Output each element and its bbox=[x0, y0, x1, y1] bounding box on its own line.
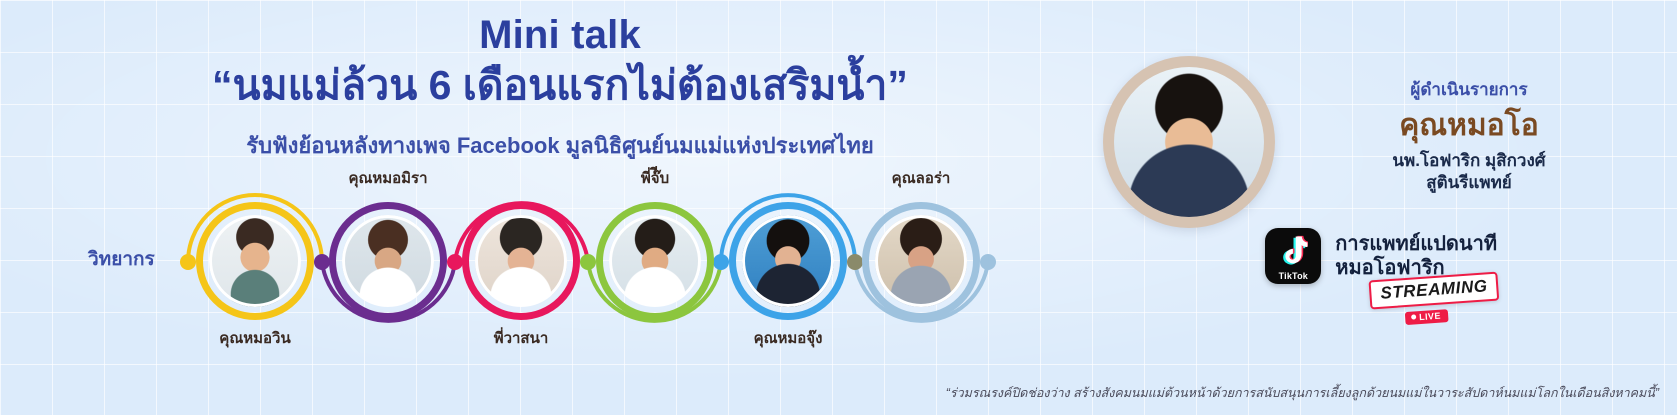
speaker-6[interactable]: คุณลอร่า bbox=[862, 202, 980, 320]
tiktok-wordmark: TikTok bbox=[1265, 271, 1321, 281]
title-subtitle: รับฟังย้อนหลังทางเพจ Facebook มูลนิธิศูน… bbox=[0, 128, 1120, 163]
speaker-5-label: คุณหมอจุ๊ง bbox=[688, 326, 888, 350]
live-badge: LIVE bbox=[1404, 309, 1447, 325]
speaker-3[interactable]: พี่วาสนา bbox=[462, 202, 580, 320]
speaker-timeline: คุณหมอวิน คุณหมอมิรา พี่วาสนา พี่จ๊ีบ คุ… bbox=[0, 172, 1120, 362]
speaker-3-label: พี่วาสนา bbox=[421, 326, 621, 350]
footer-caption: “ร่วมรณรงค์ปิดช่องว่าง สร้างสังคมนมแม่ต้… bbox=[946, 383, 1659, 403]
live-dot-icon bbox=[1411, 314, 1416, 319]
speaker-3-photo bbox=[475, 215, 567, 307]
host-full-name: นพ.โอฟาริก มุสิกวงศ์ bbox=[1289, 150, 1649, 172]
speaker-5[interactable]: คุณหมอจุ๊ง bbox=[729, 202, 847, 320]
speaker-1-label: คุณหมอวิน bbox=[155, 326, 355, 350]
speaker-5-photo bbox=[742, 215, 834, 307]
host-name: คุณหมอโอ bbox=[1289, 109, 1649, 142]
host-block: ผู้ดำเนินรายการ คุณหมอโอ นพ.โอฟาริก มุสิ… bbox=[1103, 56, 1663, 246]
promo-banner: Mini talk “นมแม่ล้วน 6 เดือนแรกไม่ต้องเส… bbox=[0, 0, 1677, 415]
host-specialty: สูตินรีแพทย์ bbox=[1289, 172, 1649, 194]
speaker-6-label: คุณลอร่า bbox=[821, 166, 1021, 190]
host-avatar-frame bbox=[1103, 56, 1275, 228]
speaker-4[interactable]: พี่จ๊ีบ bbox=[596, 202, 714, 320]
speaker-6-photo bbox=[875, 215, 967, 307]
host-avatar bbox=[1114, 67, 1264, 217]
title-block: Mini talk “นมแม่ล้วน 6 เดือนแรกไม่ต้องเส… bbox=[0, 14, 1120, 163]
live-label: LIVE bbox=[1418, 310, 1440, 321]
speaker-2-label: คุณหมอมิรา bbox=[288, 166, 488, 190]
speaker-1-photo bbox=[209, 215, 301, 307]
title-quote: “นมแม่ล้วน 6 เดือนแรกไม่ต้องเสริมน้ำ” bbox=[0, 59, 1120, 111]
timeline-node-0 bbox=[180, 254, 196, 270]
timeline-node-3 bbox=[580, 254, 596, 270]
speaker-1[interactable]: คุณหมอวิน bbox=[196, 202, 314, 320]
host-text-block: ผู้ดำเนินรายการ คุณหมอโอ นพ.โอฟาริก มุสิ… bbox=[1289, 76, 1649, 195]
channel-name-line1: การแพทย์แปดนาที bbox=[1335, 232, 1497, 256]
timeline-node-1 bbox=[314, 254, 330, 270]
timeline-node-2 bbox=[447, 254, 463, 270]
speaker-2-photo bbox=[342, 215, 434, 307]
host-role: ผู้ดำเนินรายการ bbox=[1289, 76, 1649, 103]
page-title: Mini talk bbox=[0, 14, 1120, 57]
speaker-4-photo bbox=[609, 215, 701, 307]
speaker-4-label: พี่จ๊ีบ bbox=[555, 166, 755, 190]
speakers-group-label: วิทยากร bbox=[88, 244, 155, 274]
timeline-node-6 bbox=[980, 254, 996, 270]
timeline-node-5 bbox=[847, 254, 863, 270]
streaming-badge[interactable]: STREAMING LIVE bbox=[1368, 272, 1500, 328]
timeline-node-4 bbox=[713, 254, 729, 270]
speaker-2[interactable]: คุณหมอมิรา bbox=[329, 202, 447, 320]
tiktok-icon[interactable]: TikTok bbox=[1265, 228, 1321, 284]
